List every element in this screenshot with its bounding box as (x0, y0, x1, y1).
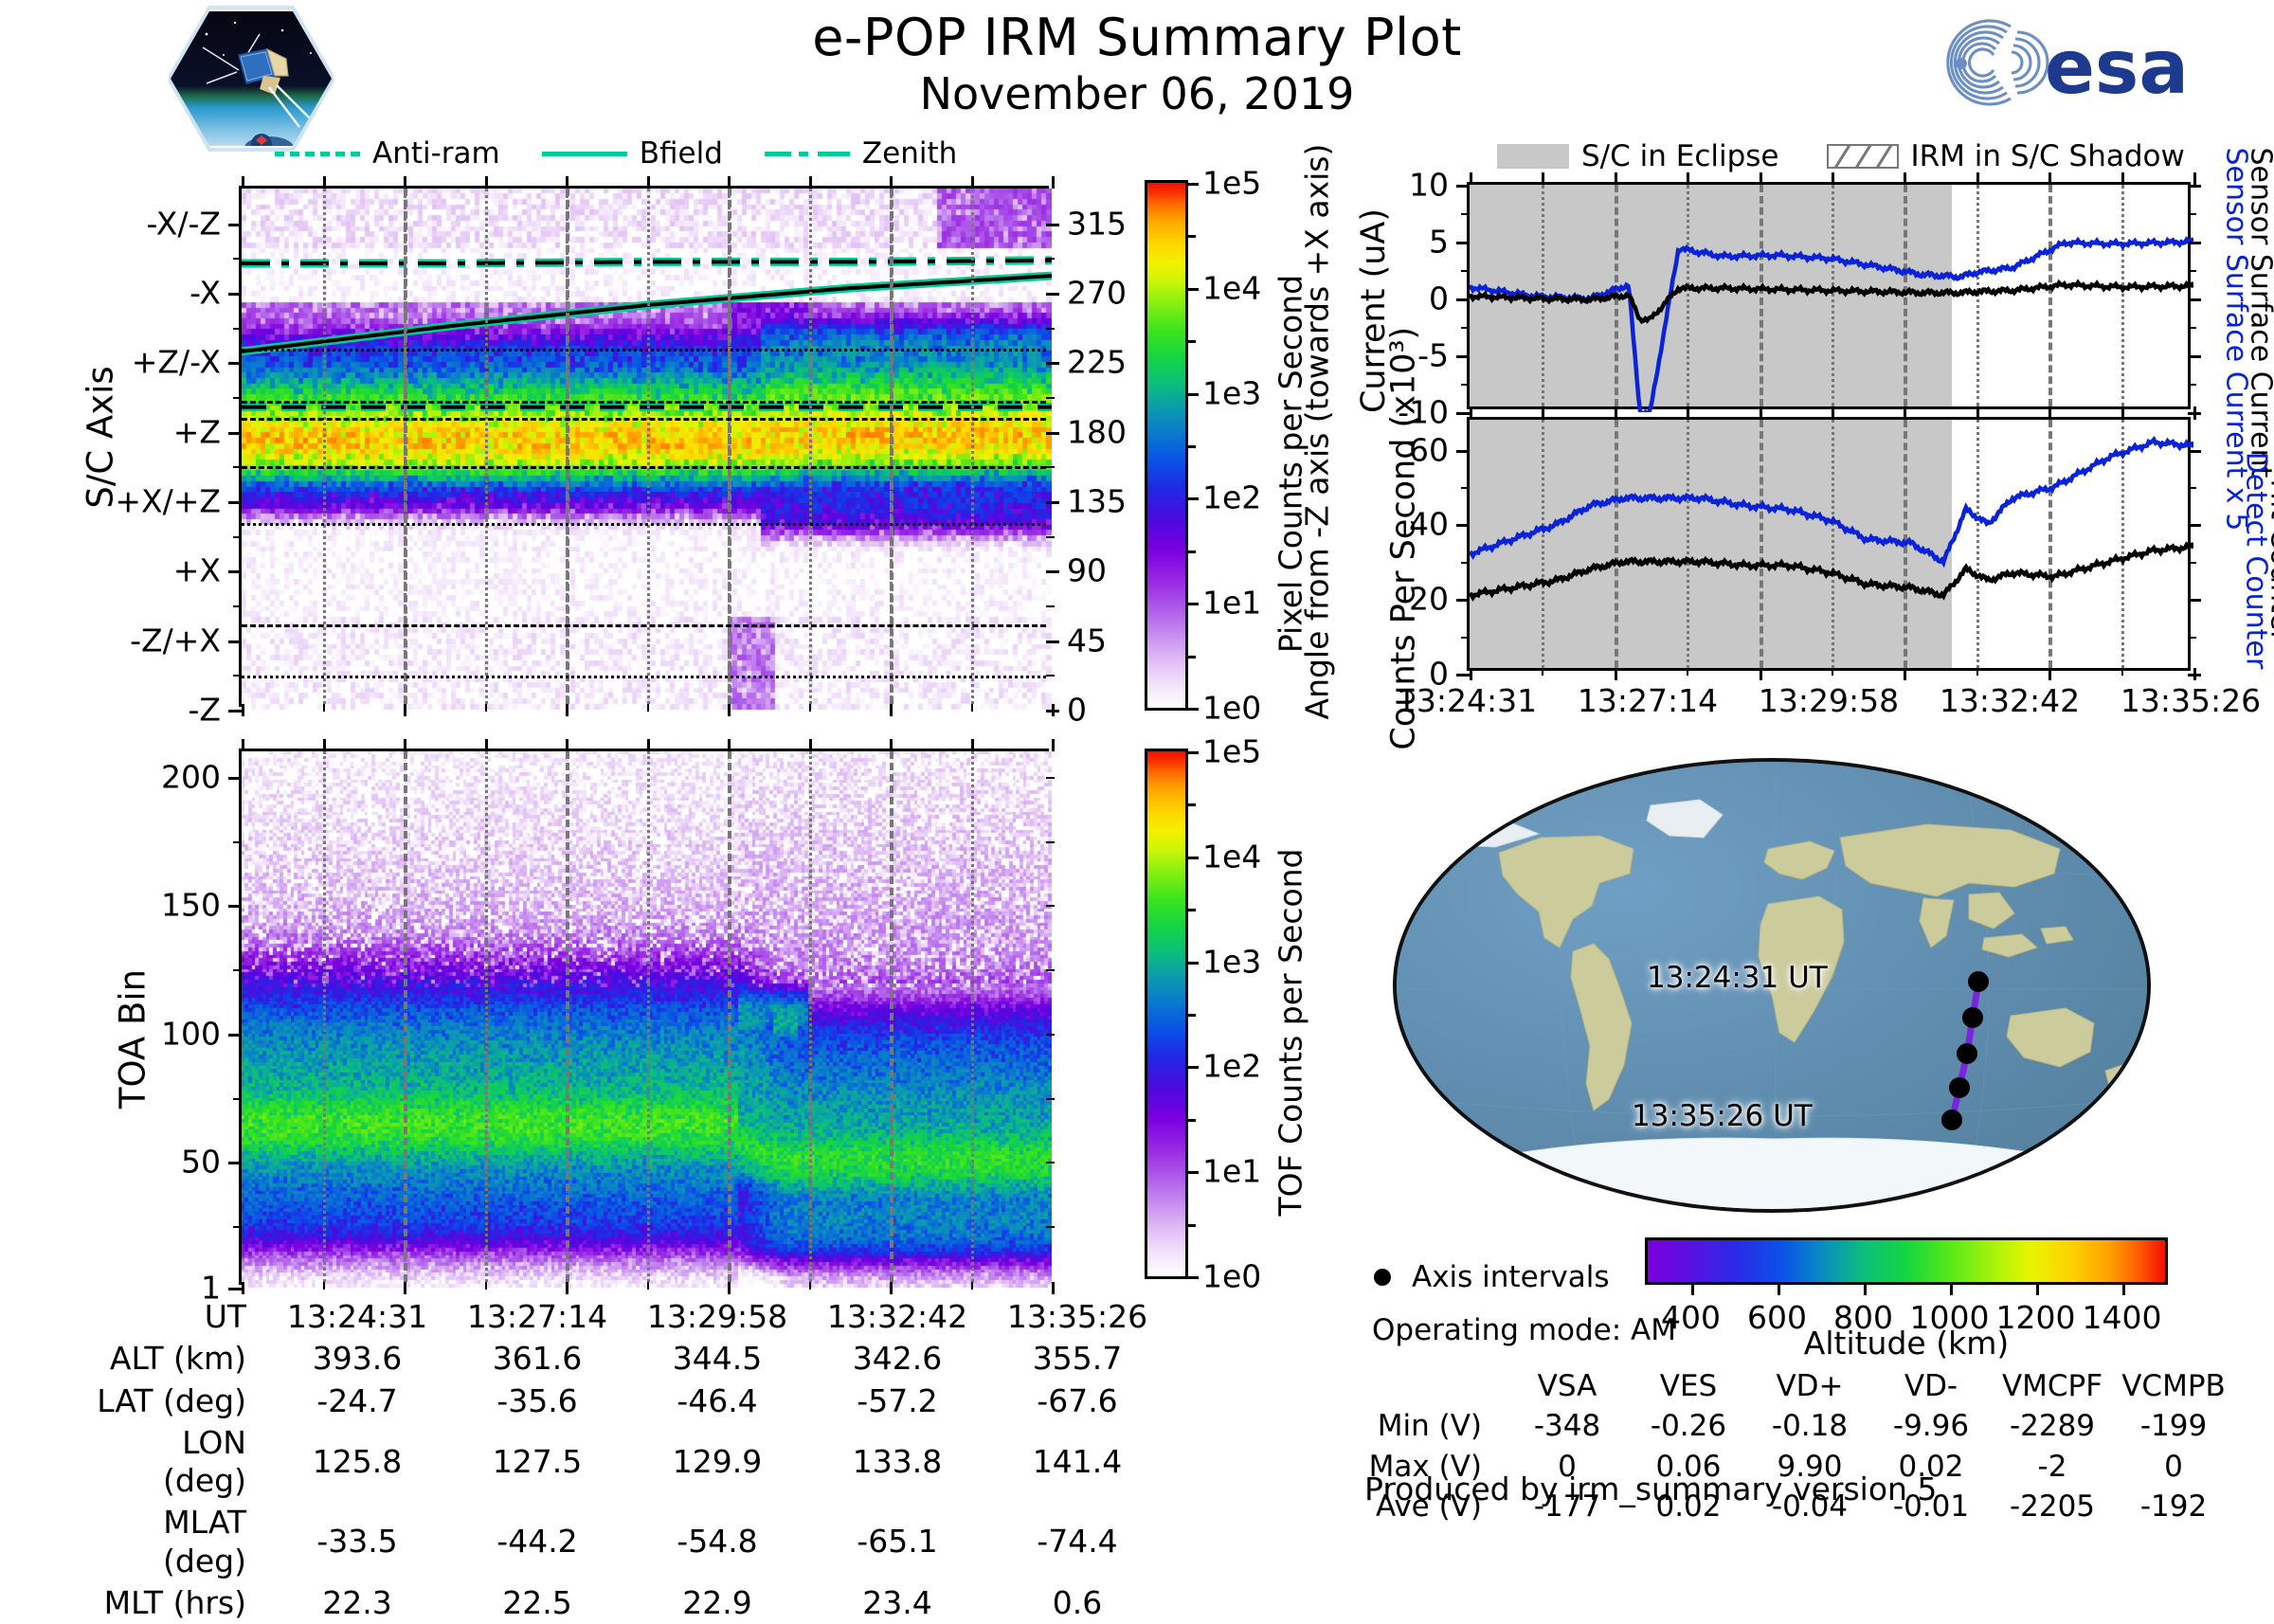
ephemeris-cell-3-2: 129.9 (627, 1422, 807, 1503)
voltage-cell-0-3: -9.96 (1870, 1406, 1992, 1446)
dashed-line-icon (275, 152, 360, 156)
legend-label: Bfield (640, 136, 723, 171)
ephemeris-cell-2-3: -57.2 (807, 1380, 987, 1422)
colorbar-label-3: 1e2 (1202, 479, 1261, 516)
counts-axis-ticks: 0204060 (1470, 420, 2188, 668)
right-panels-time-axis: 13:24:3113:27:1413:29:5813:32:4213:35:26 (1467, 678, 2191, 718)
ephemeris-row-label-0: UT (91, 1296, 267, 1338)
voltage-cell-2-5: -192 (2113, 1487, 2234, 1526)
ephemeris-cell-3-4: 141.4 (987, 1422, 1167, 1503)
dash-dot-line-icon (765, 152, 850, 156)
ephemeris-row-label-3: LON (deg) (91, 1422, 267, 1503)
operating-mode-label: Operating mode: AM (1372, 1313, 1676, 1347)
angle-ylabel-left-4: +X/+Z (115, 483, 221, 520)
voltage-corner-cell (1364, 1366, 1507, 1406)
voltage-column-header-4: VMCPF (1992, 1366, 2113, 1406)
ephemeris-cell-5-0: 22.3 (267, 1582, 447, 1624)
ground-track-map[interactable]: 13:24:31 UT 13:35:26 UT (1393, 758, 2151, 1213)
ephemeris-cell-5-2: 22.9 (627, 1582, 807, 1624)
legend-item-zenith: Zenith (765, 136, 957, 171)
colorbar-label-4: 1e1 (1202, 585, 1261, 622)
table-row: Min (V)-348-0.26-0.18-9.96-2289-199 (1364, 1406, 2234, 1446)
colorbar-label-1: 1e4 (1202, 269, 1261, 306)
voltage-cell-0-5: -199 (2113, 1406, 2234, 1446)
toa-axis-ticks: 200150100501 (242, 751, 1046, 1282)
ephemeris-cell-1-3: 342.6 (807, 1338, 987, 1380)
ephemeris-cell-1-4: 355.7 (987, 1338, 1167, 1380)
legend-label: IRM in S/C Shadow (1911, 139, 2185, 173)
current-axis-ticks: -10-50510 (1470, 185, 2188, 406)
ephemeris-cell-4-2: -54.8 (627, 1502, 807, 1582)
ephemeris-cell-5-4: 0.6 (987, 1582, 1167, 1624)
ephemeris-cell-0-3: 13:32:42 (807, 1296, 987, 1338)
time-tick-3: 13:32:42 (1940, 682, 2080, 719)
angle-ylabel-left-1: -X (189, 275, 221, 312)
counts-right-label-black: Hit Counter (2265, 442, 2274, 679)
colorbar-label-1: 1e4 (1202, 838, 1261, 875)
ephemeris-row-label-1: ALT (km) (91, 1338, 267, 1380)
ephemeris-cell-2-0: -24.7 (267, 1380, 447, 1422)
colorbar-label-2: 1e3 (1202, 374, 1261, 411)
angle-ylabel-left-6: -Z/+X (130, 622, 221, 659)
table-header-row: VSAVESVD+VD-VMCPFVCMPB (1364, 1366, 2234, 1406)
ephemeris-cell-4-3: -65.1 (807, 1502, 987, 1582)
voltage-column-header-0: VSA (1507, 1366, 1628, 1406)
legend-label: Zenith (862, 136, 957, 171)
voltage-cell-1-4: -2 (1992, 1447, 2113, 1487)
orbit-start-time-label: 13:24:31 UT (1647, 961, 1828, 995)
altitude-colorbar-title: Altitude (km) (1645, 1325, 2168, 1362)
ephemeris-cell-3-3: 133.8 (807, 1422, 987, 1503)
ephemeris-cell-5-1: 22.5 (447, 1582, 627, 1624)
current-ytick-2: 0 (1429, 280, 1449, 317)
time-tick-1: 13:27:14 (1578, 682, 1718, 719)
axis-intervals-legend: Axis intervals (1374, 1260, 1610, 1294)
angle-ylabel-right-5: 90 (1067, 552, 1107, 589)
table-row: LAT (deg)-24.7-35.6-46.4-57.2-67.6 (91, 1380, 1167, 1422)
toa-ylabel-1: 150 (161, 887, 221, 924)
ephemeris-cell-1-1: 361.6 (447, 1338, 627, 1380)
angle-ylabel-left-2: +Z/-X (132, 344, 221, 381)
ephemeris-cell-2-2: -46.4 (627, 1380, 807, 1422)
hatched-swatch-icon (1827, 144, 1899, 169)
ephemeris-cell-0-1: 13:27:14 (447, 1296, 627, 1338)
voltage-column-header-3: VD- (1870, 1366, 1992, 1406)
cassiope-mission-patch-icon (169, 6, 334, 152)
angle-ylabel-right-4: 135 (1067, 483, 1127, 520)
ephemeris-cell-4-4: -74.4 (987, 1502, 1167, 1582)
voltage-cell-0-0: -348 (1507, 1406, 1628, 1446)
current-panel[interactable]: -10-50510 (1467, 182, 2191, 409)
colorbar-label-0: 1e5 (1202, 733, 1261, 770)
ephemeris-row-label-5: MLT (hrs) (91, 1582, 267, 1624)
voltage-cell-0-1: -0.26 (1628, 1406, 1749, 1446)
ephemeris-cell-2-1: -35.6 (447, 1380, 627, 1422)
ephemeris-cell-1-0: 393.6 (267, 1338, 447, 1380)
angle-panel-ylabel-left: S/C Axis (81, 324, 121, 551)
voltage-row-label-0: Min (V) (1364, 1406, 1507, 1446)
ephemeris-cell-2-4: -67.6 (987, 1380, 1167, 1422)
current-ytick-4: 10 (1409, 167, 1449, 204)
colorbar-label-5: 1e0 (1202, 690, 1261, 727)
tof-counts-colorbar-title: TOF Counts per Second (1272, 767, 1309, 1298)
svg-text:esa: esa (2045, 26, 2189, 111)
ephemeris-cell-0-2: 13:29:58 (627, 1296, 807, 1338)
current-ytick-3: 5 (1429, 224, 1449, 261)
colorbar-label-3: 1e2 (1202, 1048, 1261, 1085)
counts-panel[interactable]: 0204060 (1467, 417, 2191, 671)
voltage-column-header-5: VCMPB (2113, 1366, 2234, 1406)
legend-item-anti-ram: Anti-ram (275, 136, 500, 171)
colorbar-label-5: 1e0 (1202, 1258, 1261, 1295)
table-row: UT13:24:3113:27:1413:29:5813:32:4213:35:… (91, 1296, 1167, 1338)
ephemeris-table: UT13:24:3113:27:1413:29:5813:32:4213:35:… (91, 1296, 1167, 1624)
toa-panel-ylabel: TOA Bin (113, 897, 153, 1182)
ephemeris-cell-1-2: 344.5 (627, 1338, 807, 1380)
angle-spectrogram-panel[interactable]: -X/-Z-X+Z/-X+Z+X/+Z+X-Z/+X-Z315270225180… (239, 186, 1049, 707)
angle-axis-ticks: -X/-Z-X+Z/-X+Z+X/+Z+X-Z/+X-Z315270225180… (242, 189, 1046, 704)
time-tick-2: 13:29:58 (1759, 682, 1899, 719)
angle-ylabel-left-7: -Z (188, 692, 221, 729)
angle-ylabel-right-0: 315 (1067, 205, 1127, 242)
voltage-cell-1-5: 0 (2113, 1447, 2234, 1487)
pixel-counts-colorbar: 1e51e41e31e21e11e0 (1145, 180, 1188, 711)
colorbar-ticks: 1e51e41e31e21e11e0 (1147, 183, 1185, 708)
marker-dot-icon (1374, 1269, 1391, 1286)
ephemeris-cell-5-3: 23.4 (807, 1582, 987, 1624)
tof-counts-colorbar: 1e51e41e31e21e11e0 (1145, 749, 1188, 1279)
legend-item-bfield: Bfield (542, 136, 723, 171)
colorbar-label-0: 1e5 (1202, 165, 1261, 202)
eclipse-legend: S/C in Eclipse IRM in S/C Shadow (1497, 138, 2227, 174)
ephemeris-cell-4-0: -33.5 (267, 1502, 447, 1582)
angle-ylabel-right-3: 180 (1067, 413, 1127, 450)
table-row: MLAT (deg)-33.5-44.2-54.8-65.1-74.4 (91, 1502, 1167, 1582)
legend-item-sc-eclipse: S/C in Eclipse (1497, 139, 1779, 173)
table-row: ALT (km)393.6361.6344.5342.6355.7 (91, 1338, 1167, 1380)
current-right-label-black: Sensor Surface Current (2245, 148, 2274, 470)
voltage-cell-0-2: -0.18 (1749, 1406, 1870, 1446)
voltage-cell-0-4: -2289 (1992, 1406, 2113, 1446)
pixel-counts-colorbar-title: Pixel Counts per Second (1272, 199, 1309, 730)
angle-ylabel-left-0: -X/-Z (146, 205, 221, 242)
ephemeris-cell-3-1: 127.5 (447, 1422, 627, 1503)
solid-line-icon (542, 152, 627, 156)
legend-item-irm-shadow: IRM in S/C Shadow (1827, 139, 2185, 173)
colorbar-ticks: 400600800100012001400 (1648, 1240, 2165, 1282)
angle-panel-legend: Anti-ram Bfield Zenith (275, 135, 995, 172)
ephemeris-cell-0-0: 13:24:31 (267, 1296, 447, 1338)
angle-ylabel-right-2: 225 (1067, 344, 1127, 381)
legend-label: Anti-ram (372, 136, 500, 171)
voltage-cell-2-4: -2205 (1992, 1487, 2113, 1526)
colorbar-ticks: 1e51e41e31e21e11e0 (1147, 751, 1185, 1276)
ephemeris-row-label-4: MLAT (deg) (91, 1502, 267, 1582)
time-tick-4: 13:35:26 (2121, 682, 2261, 719)
toa-spectrogram-panel[interactable]: 200150100501 (239, 749, 1049, 1285)
produced-by-label: Produced by irm_summary version 5 (1364, 1471, 1937, 1507)
angle-ylabel-left-5: +X (173, 552, 221, 589)
ephemeris-row-label-2: LAT (deg) (91, 1380, 267, 1422)
colorbar-label-2: 1e3 (1202, 943, 1261, 980)
ephemeris-cell-4-1: -44.2 (447, 1502, 627, 1582)
esa-logo-icon: esa (1923, 13, 2198, 112)
colorbar-label-4: 1e1 (1202, 1153, 1261, 1190)
toa-ylabel-0: 200 (161, 759, 221, 796)
angle-ylabel-right-7: 0 (1067, 692, 1087, 729)
ephemeris-cell-0-4: 13:35:26 (987, 1296, 1167, 1338)
toa-ylabel-3: 50 (181, 1144, 221, 1181)
table-row: LON (deg)125.8127.5129.9133.8141.4 (91, 1422, 1167, 1503)
voltage-column-header-1: VES (1628, 1366, 1749, 1406)
toa-ylabel-2: 100 (161, 1015, 221, 1052)
voltage-column-header-2: VD+ (1749, 1366, 1870, 1406)
angle-ylabel-right-1: 270 (1067, 275, 1127, 312)
gray-fill-swatch-icon (1497, 144, 1569, 169)
angle-ylabel-left-3: +Z (173, 413, 221, 450)
altitude-colorbar: 400600800100012001400 (1645, 1237, 2168, 1285)
axis-intervals-label: Axis intervals (1412, 1260, 1610, 1294)
ephemeris-cell-3-0: 125.8 (267, 1422, 447, 1503)
legend-label: S/C in Eclipse (1581, 139, 1779, 173)
angle-ylabel-right-6: 45 (1067, 622, 1107, 659)
orbit-end-time-label: 13:35:26 UT (1632, 1099, 1813, 1133)
table-row: MLT (hrs)22.322.522.923.40.6 (91, 1582, 1167, 1624)
time-tick-0: 13:24:31 (1397, 682, 1537, 719)
